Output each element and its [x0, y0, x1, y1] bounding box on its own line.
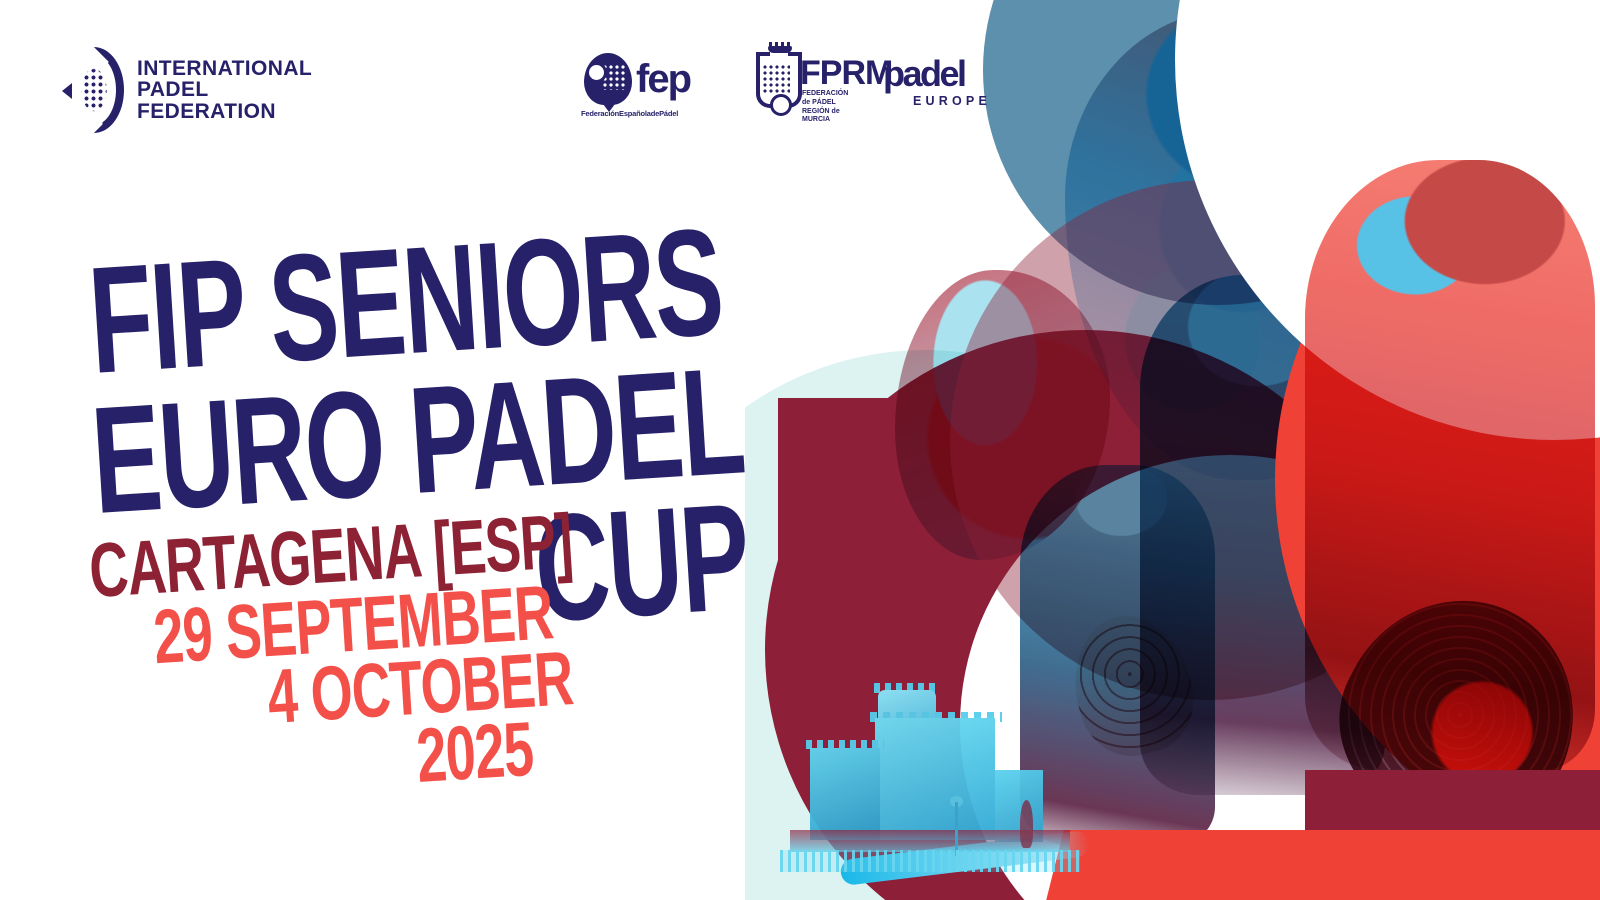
fprm-logo-word: FPRM	[800, 54, 892, 93]
fprm-subtitle-line-1: FEDERACIÓN de PÁDEL	[802, 90, 858, 108]
federacion-de-padel-region-de-murcia-logo[interactable]: FPRM FEDERACIÓN de PÁDEL REGIÓN de MURCI…	[748, 42, 858, 122]
castle-illustration	[780, 690, 1080, 875]
padel-europe-word: padel	[883, 56, 1003, 92]
fprm-logo-subtitle: FEDERACIÓN de PÁDEL REGIÓN de MURCIA	[802, 90, 858, 125]
racket-dots-icon	[762, 64, 790, 94]
event-poster: INTERNATIONAL PADEL FEDERATION fep Feder…	[0, 0, 1600, 900]
bottom-red-sweep-shape	[1026, 830, 1600, 900]
padel-europe-subtitle: EUROPE	[913, 94, 1003, 108]
headline-block: FIP SENIORS EURO PADEL CUP CARTAGENA [ES…	[0, 0, 809, 900]
padel-europe-logo[interactable]: padel EUROPE	[883, 56, 1003, 111]
ball-icon	[770, 94, 792, 116]
event-date-line-3: 2025	[414, 705, 536, 801]
fprm-subtitle-line-2: REGIÓN de MURCIA	[802, 108, 858, 126]
